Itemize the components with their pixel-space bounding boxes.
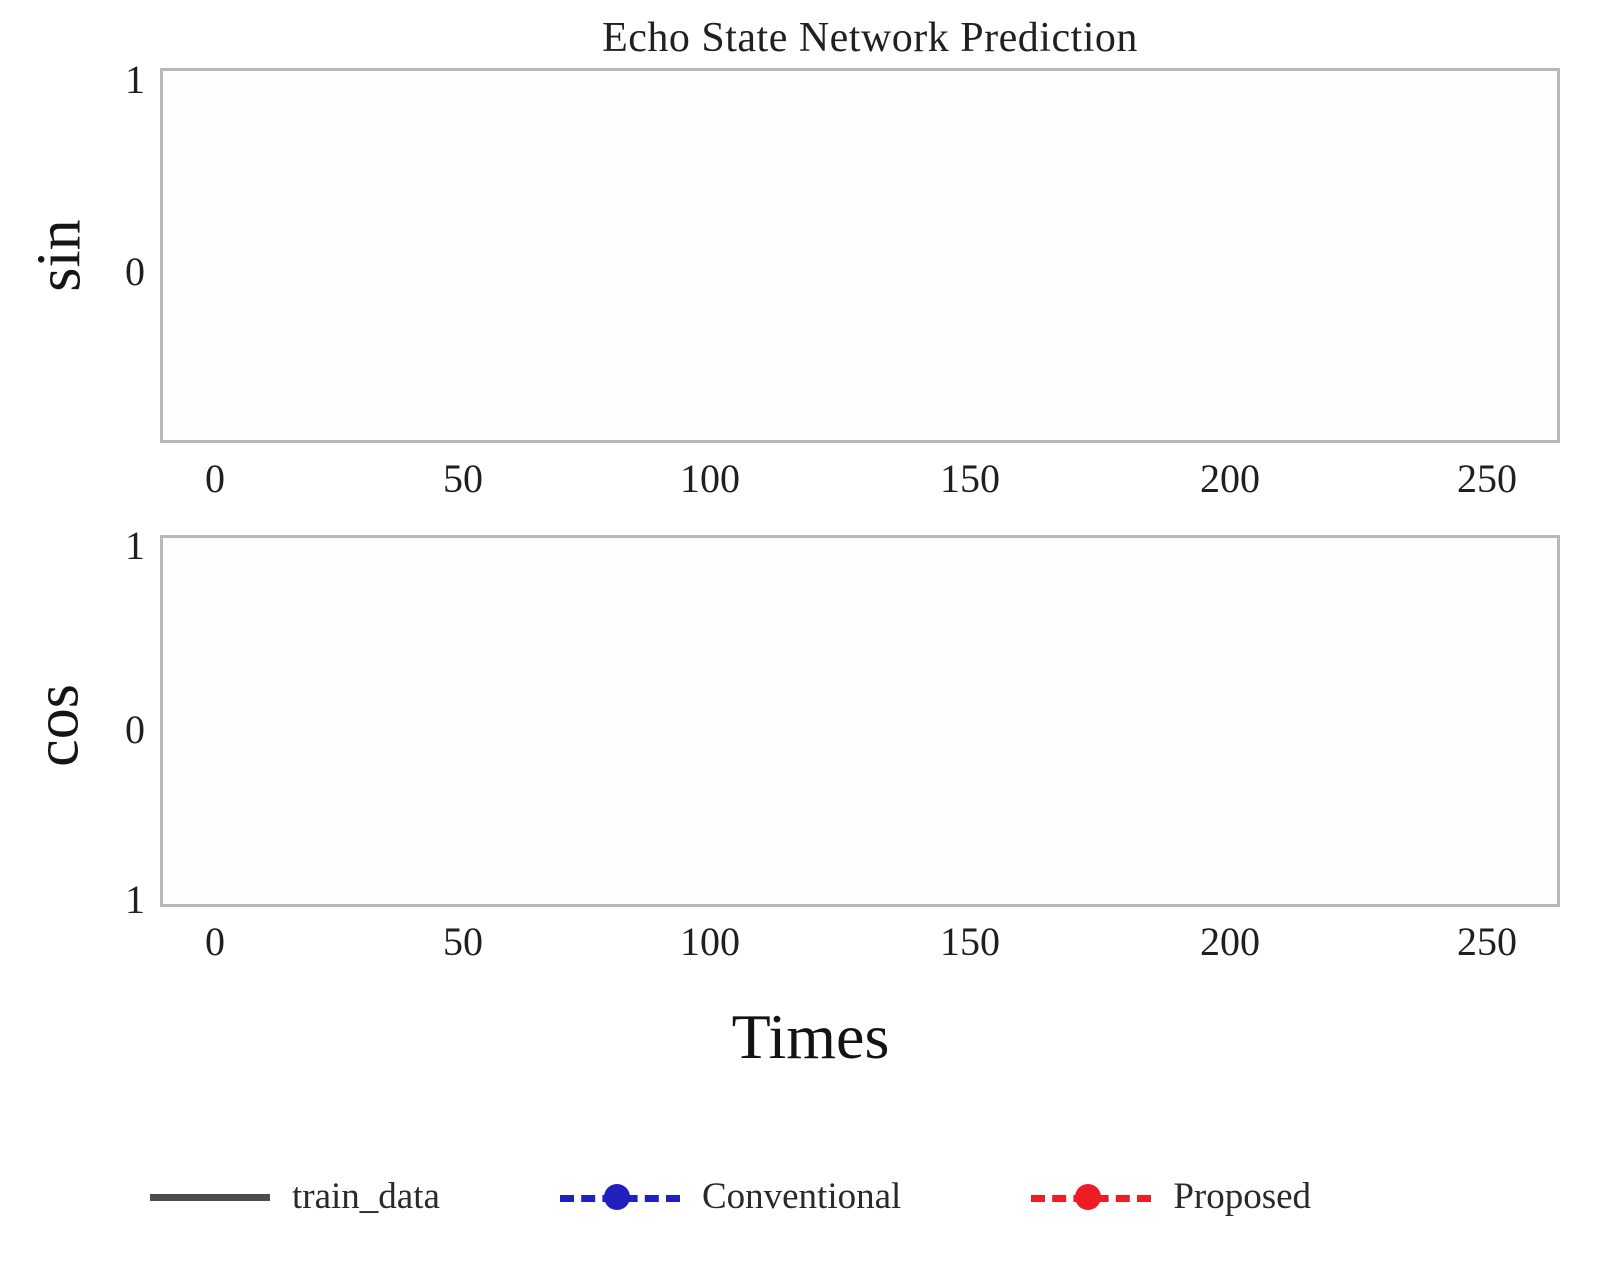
x-tick-cos-2: 100 <box>645 918 775 965</box>
x-tick-sin-2: 100 <box>645 455 775 502</box>
circle-marker-icon <box>604 1184 630 1210</box>
figure-canvas: Echo State Network Prediction sin 1 0 0 … <box>0 0 1621 1281</box>
solid-line-icon <box>150 1194 270 1201</box>
x-tick-cos-5: 250 <box>1422 918 1552 965</box>
y-axis-label-sin: sin <box>25 156 96 356</box>
y-tick-mid-sin: 0 <box>95 248 145 295</box>
x-tick-sin-3: 150 <box>905 455 1035 502</box>
x-tick-sin-4: 200 <box>1165 455 1295 502</box>
x-tick-cos-3: 150 <box>905 918 1035 965</box>
legend-item-conventional[interactable]: Conventional <box>560 1175 901 1218</box>
x-tick-sin-0: 0 <box>175 455 255 502</box>
legend-label-conventional: Conventional <box>702 1175 901 1218</box>
plot-panel-cos <box>160 535 1560 907</box>
legend-label-proposed: Proposed <box>1173 1175 1311 1218</box>
y-tick-top-cos: 1 <box>95 522 145 569</box>
x-tick-cos-0: 0 <box>175 918 255 965</box>
y-tick-bottom-cos: 1 <box>95 876 145 923</box>
plot-panel-sin <box>160 68 1560 443</box>
x-tick-cos-4: 200 <box>1165 918 1295 965</box>
legend-swatch-conventional <box>560 1183 680 1211</box>
chart-legend: train_data Conventional Proposed <box>140 1175 1480 1218</box>
y-tick-top-sin: 1 <box>95 56 145 103</box>
x-tick-cos-1: 50 <box>408 918 518 965</box>
x-tick-sin-5: 250 <box>1422 455 1552 502</box>
legend-swatch-train-data <box>150 1183 270 1211</box>
page-title: Echo State Network Prediction <box>170 14 1570 62</box>
circle-marker-icon <box>1075 1184 1101 1210</box>
x-tick-sin-1: 50 <box>408 455 518 502</box>
legend-item-proposed[interactable]: Proposed <box>1031 1175 1311 1218</box>
legend-swatch-proposed <box>1031 1183 1151 1211</box>
axes-frame-cos <box>160 535 1560 907</box>
axes-frame-sin <box>160 68 1560 443</box>
y-tick-mid-cos: 0 <box>95 706 145 753</box>
y-axis-label-cos: cos <box>23 626 94 826</box>
legend-item-train-data[interactable]: train_data <box>150 1175 440 1218</box>
legend-label-train-data: train_data <box>292 1175 440 1218</box>
x-axis-label: Times <box>0 1000 1621 1074</box>
